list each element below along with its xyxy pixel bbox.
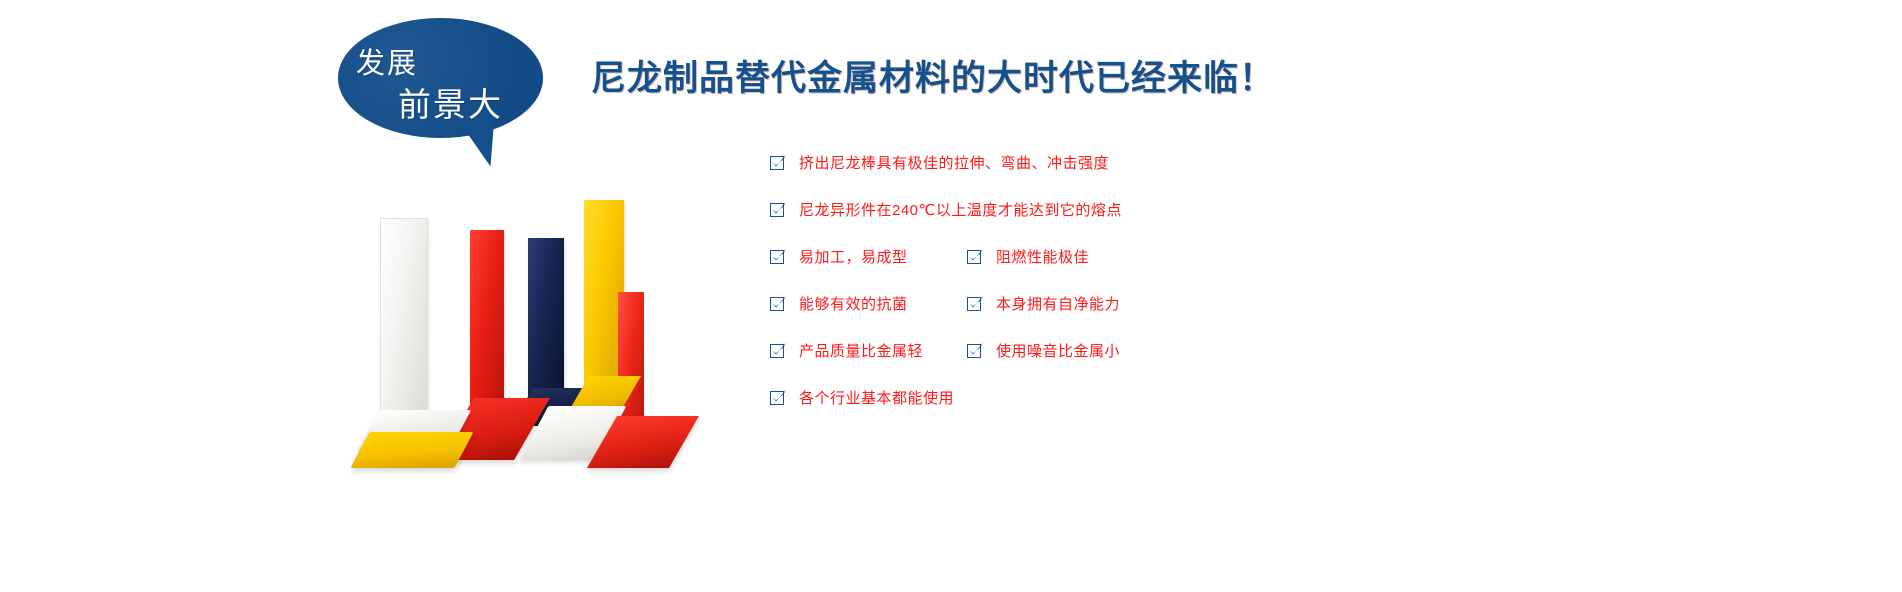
piece-red-angle-web [470, 230, 504, 408]
feature-label: 尼龙异形件在240℃以上温度才能达到它的熔点 [799, 199, 1122, 220]
product-photo [352, 180, 702, 470]
feature-row: 易加工，易成型 阻燃性能极佳 [770, 246, 1470, 293]
feature-list: 挤出尼龙棒具有极佳的拉伸、弯曲、冲击强度 尼龙异形件在240℃以上温度才能达到它… [770, 152, 1470, 434]
feature-label: 阻燃性能极佳 [996, 246, 1089, 267]
feature-item: 本身拥有自净能力 [967, 293, 1120, 314]
feature-row: 挤出尼龙棒具有极佳的拉伸、弯曲、冲击强度 [770, 152, 1470, 199]
checkbox-checked-icon [967, 248, 984, 265]
feature-label: 使用噪音比金属小 [996, 340, 1120, 361]
feature-label: 本身拥有自净能力 [996, 293, 1120, 314]
checkbox-checked-icon [770, 295, 787, 312]
checkbox-checked-icon [770, 201, 787, 218]
piece-white-u-channel [380, 218, 428, 418]
checkbox-checked-icon [770, 342, 787, 359]
piece-navy-bar [528, 238, 564, 398]
piece-yellow-base [350, 432, 473, 468]
bubble-text-line-2: 前景大 [398, 78, 503, 126]
promo-banner: 发展 前景大 尼龙制品替代金属材料的大时代已经来临！ [0, 0, 1902, 592]
feature-label: 能够有效的抗菌 [799, 293, 908, 314]
feature-row: 尼龙异形件在240℃以上温度才能达到它的熔点 [770, 199, 1470, 246]
headline: 尼龙制品替代金属材料的大时代已经来临！ [591, 50, 1275, 101]
feature-row: 能够有效的抗菌 本身拥有自净能力 [770, 293, 1470, 340]
feature-item: 能够有效的抗菌 [770, 293, 908, 314]
feature-label: 各个行业基本都能使用 [799, 387, 954, 408]
feature-item: 各个行业基本都能使用 [770, 387, 954, 408]
feature-row: 各个行业基本都能使用 [770, 387, 1470, 434]
feature-item: 使用噪音比金属小 [967, 340, 1120, 361]
bubble-text-line-1: 发展 [356, 40, 418, 82]
checkbox-checked-icon [967, 342, 984, 359]
feature-item: 挤出尼龙棒具有极佳的拉伸、弯曲、冲击强度 [770, 152, 1109, 173]
checkbox-checked-icon [967, 295, 984, 312]
feature-item: 尼龙异形件在240℃以上温度才能达到它的熔点 [770, 199, 1122, 220]
feature-label: 易加工，易成型 [799, 246, 908, 267]
feature-item: 阻燃性能极佳 [967, 246, 1089, 267]
checkbox-checked-icon [770, 248, 787, 265]
checkbox-checked-icon [770, 154, 787, 171]
checkbox-checked-icon [770, 389, 787, 406]
feature-item: 易加工，易成型 [770, 246, 908, 267]
feature-label: 挤出尼龙棒具有极佳的拉伸、弯曲、冲击强度 [799, 152, 1109, 173]
feature-label: 产品质量比金属轻 [799, 340, 923, 361]
speech-bubble: 发展 前景大 [338, 18, 553, 166]
feature-item: 产品质量比金属轻 [770, 340, 923, 361]
feature-row: 产品质量比金属轻 使用噪音比金属小 [770, 340, 1470, 387]
